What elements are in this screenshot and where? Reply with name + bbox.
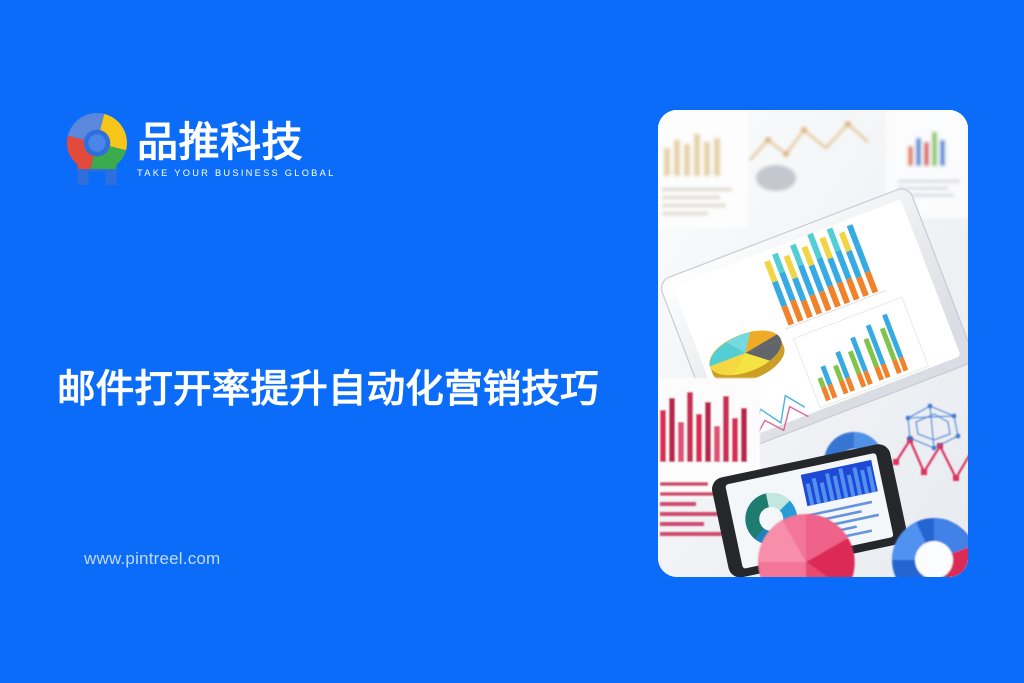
cover-photo xyxy=(658,110,968,577)
brand-name-cn: 品推科技 xyxy=(137,122,336,164)
page-title: 邮件打开率提升自动化营销技巧 xyxy=(57,367,617,412)
blog-cover-card: 品推科技 TAKE YOUR BUSINESS GLOBAL 邮件打开率提升自动… xyxy=(0,0,1024,683)
brand-tagline: TAKE YOUR BUSINESS GLOBAL xyxy=(137,168,336,179)
brand-logo[interactable]: 品推科技 TAKE YOUR BUSINESS GLOBAL xyxy=(66,112,336,186)
site-url[interactable]: www.pintreel.com xyxy=(84,548,220,570)
pintreel-logo-icon xyxy=(66,112,128,186)
brand-wordmark: 品推科技 TAKE YOUR BUSINESS GLOBAL xyxy=(137,119,336,179)
cover-photo-illustration xyxy=(658,110,968,577)
